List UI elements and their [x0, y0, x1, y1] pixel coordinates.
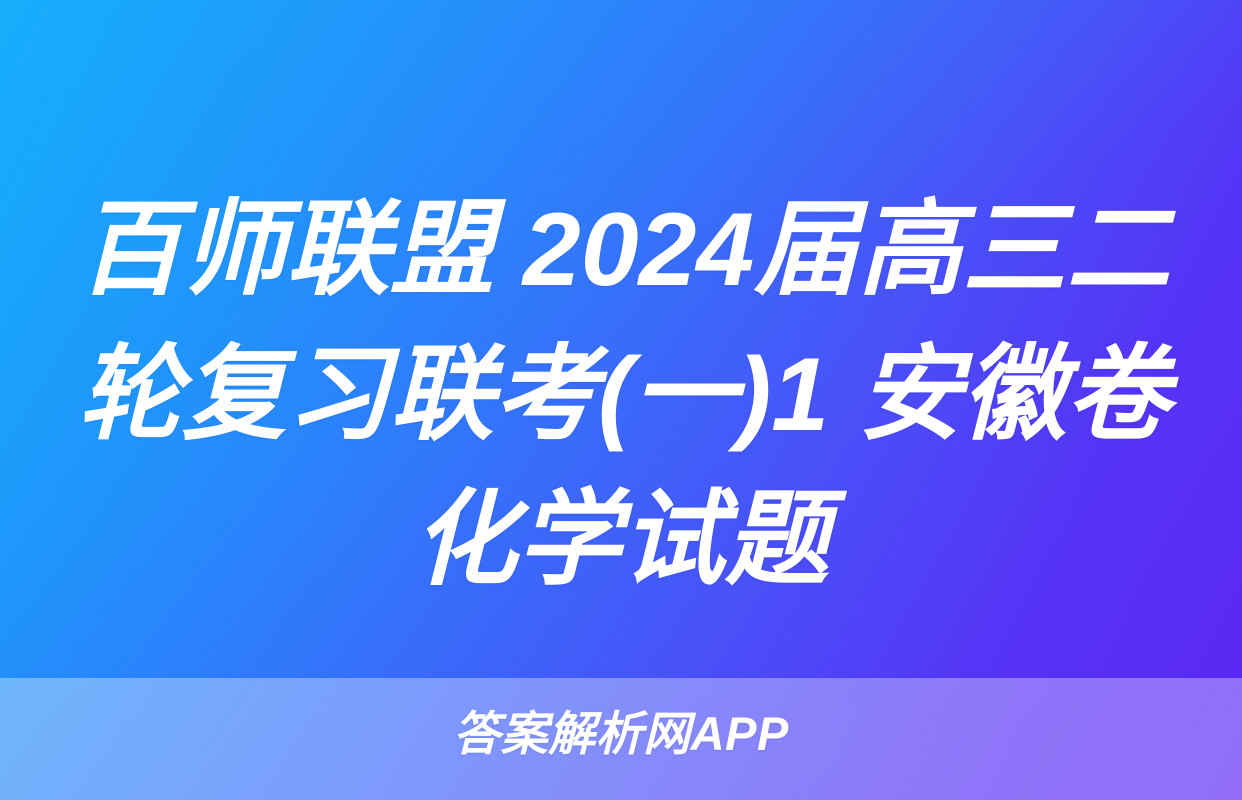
watermark-app-label: 答案解析网APP [0, 706, 1242, 762]
banner-title: 百师联盟 2024届高三二 轮复习联考(一)1 安徽卷 化学试题 [0, 178, 1242, 613]
title-line-1: 百师联盟 2024届高三二 [0, 178, 1242, 323]
title-line-3: 化学试题 [0, 468, 1242, 613]
title-line-2: 轮复习联考(一)1 安徽卷 [0, 323, 1242, 468]
exam-cover-banner: 百师联盟 2024届高三二 轮复习联考(一)1 安徽卷 化学试题 答案解析网AP… [0, 0, 1242, 800]
